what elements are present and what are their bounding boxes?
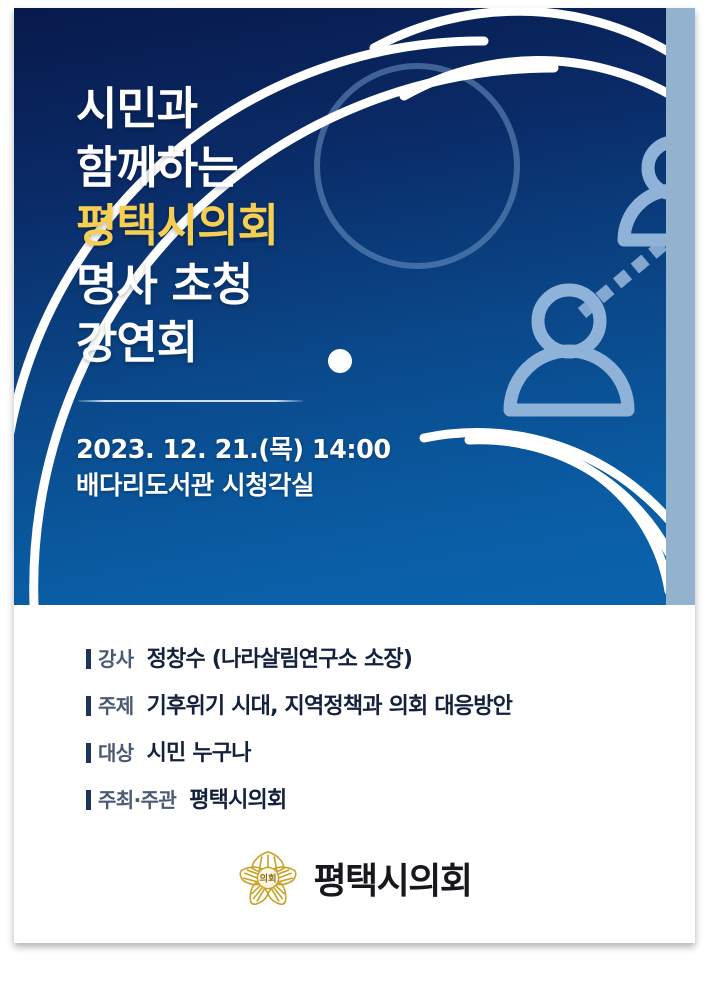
event-poster: 시민과 함께하는 평택시의회 명사 초청 강연회 2023. 12. 21.(목…: [14, 8, 695, 943]
bullet-bar-icon: [86, 790, 91, 810]
detail-label: 강사: [98, 643, 134, 672]
poster-title: 시민과 함께하는 평택시의회 명사 초청 강연회: [76, 80, 496, 373]
detail-row-topic: 주제 기후위기 시대, 지역정책과 의회 대응방안: [86, 688, 512, 720]
person-icon-large: [510, 290, 628, 410]
emblem-label: 의회: [260, 873, 277, 885]
council-emblem-icon: 의회: [237, 847, 299, 909]
title-line-4: 명사 초청: [76, 256, 496, 315]
poster-info-section: 강사 정창수 (나라살림연구소 소장) 주제 기후위기 시대, 지역정책과 의회…: [14, 605, 695, 943]
detail-value: 정창수 (나라살림연구소 소장): [147, 641, 413, 673]
detail-value: 평택시의회: [189, 782, 286, 814]
title-line-1: 시민과: [76, 80, 496, 139]
bullet-bar-icon: [86, 649, 91, 669]
bullet-bar-icon: [86, 696, 91, 716]
detail-label: 대상: [98, 737, 134, 766]
detail-row-speaker: 강사 정창수 (나라살림연구소 소장): [86, 641, 512, 673]
title-line-2: 함께하는: [76, 139, 496, 198]
title-line-5: 강연회: [76, 314, 496, 373]
bullet-bar-icon: [86, 743, 91, 763]
title-divider: [78, 400, 303, 402]
detail-label: 주최·주관: [98, 784, 176, 813]
detail-row-audience: 대상 시민 누구나: [86, 735, 512, 767]
detail-row-organizer: 주최·주관 평택시의회: [86, 782, 512, 814]
poster-hero-section: 시민과 함께하는 평택시의회 명사 초청 강연회 2023. 12. 21.(목…: [14, 8, 695, 605]
organization-name: 평택시의회: [313, 852, 471, 904]
detail-label: 주제: [98, 690, 134, 719]
right-accent-band: [666, 8, 695, 605]
event-venue: 배다리도서관 시청각실: [76, 469, 391, 505]
detail-list: 강사 정창수 (나라살림연구소 소장) 주제 기후위기 시대, 지역정책과 의회…: [86, 641, 512, 829]
organization-logo: 의회 평택시의회: [14, 847, 695, 909]
event-meta: 2023. 12. 21.(목) 14:00 배다리도서관 시청각실: [76, 433, 391, 504]
title-line-3-highlight: 평택시의회: [76, 197, 496, 256]
detail-value: 기후위기 시대, 지역정책과 의회 대응방안: [147, 688, 512, 720]
event-datetime: 2023. 12. 21.(목) 14:00: [76, 433, 391, 469]
detail-value: 시민 누구나: [147, 735, 251, 767]
